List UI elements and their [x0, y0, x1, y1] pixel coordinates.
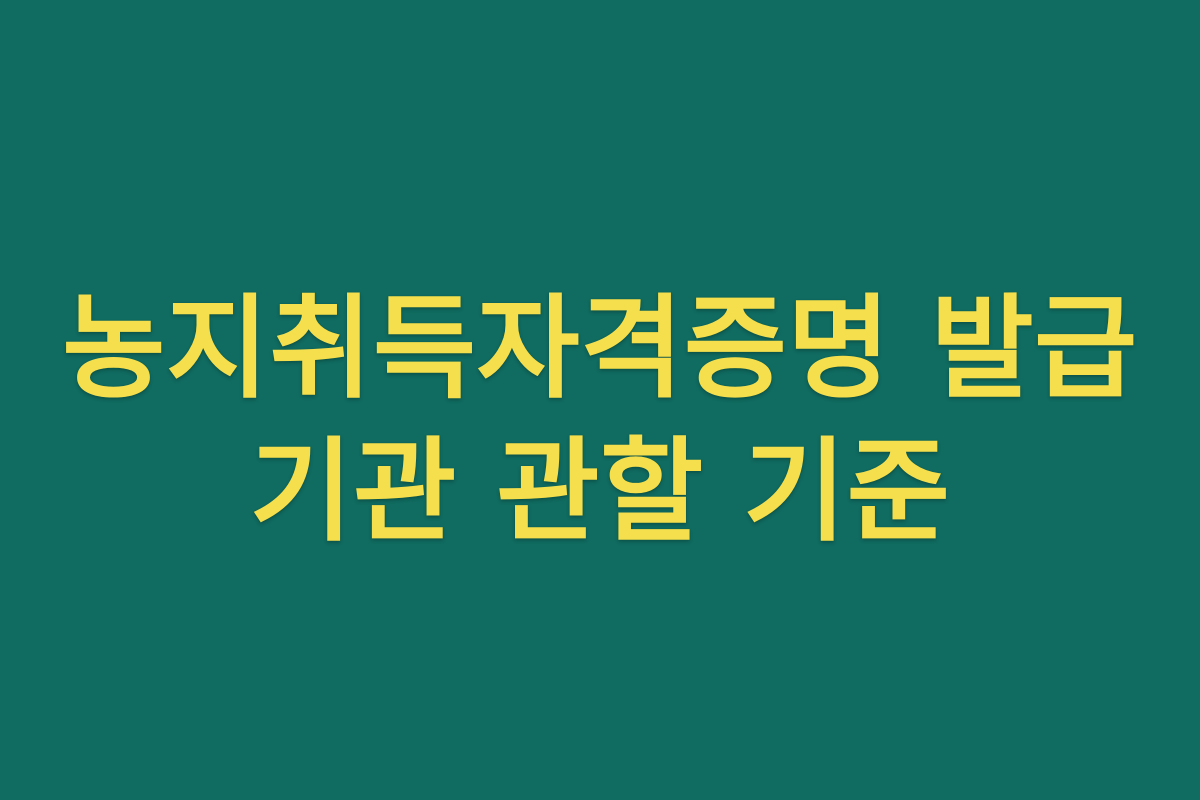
banner-title-line-2: 기관 관할 기준 [40, 424, 1160, 561]
title-banner: 농지취득자격증명 발급 기관 관할 기준 [0, 0, 1200, 800]
banner-title-line-1: 농지취득자격증명 발급 [40, 281, 1160, 418]
banner-title-block: 농지취득자격증명 발급 기관 관할 기준 [40, 281, 1160, 560]
